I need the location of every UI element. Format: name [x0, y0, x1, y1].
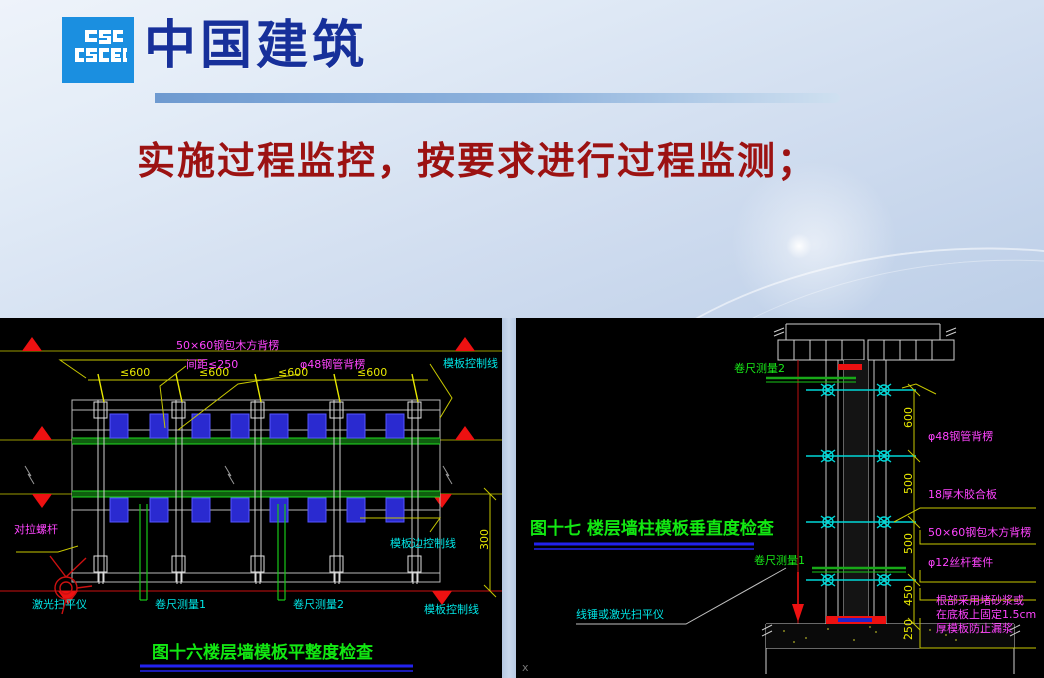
- tape-measure-1: [140, 504, 147, 600]
- panel-separator: [502, 318, 516, 678]
- dim-450: 450: [902, 585, 915, 606]
- label-control-line-bottom: 模板控制线: [424, 602, 479, 616]
- label-timber-top: 50×60钢包木方背楞: [176, 338, 279, 352]
- label-edge-control-line: 模板边控制线: [390, 536, 456, 550]
- cad-figure-right: 600 500 500 450 250 φ48钢管背楞 18厚木胶合板 50×6…: [516, 318, 1044, 678]
- tape-measure-right: [766, 378, 906, 572]
- tie-rod-nuts-bottom: [94, 556, 421, 584]
- cad-figure-left: 50×60钢包木方背楞 间距≤250 φ48钢管背楞 对拉螺杆 ≤600 ≤60…: [0, 318, 502, 678]
- dim-span-4: ≤600: [357, 366, 387, 379]
- label-screw-kit: φ12丝杆套件: [928, 555, 993, 569]
- figure-right-title: 图十七 楼层墙柱模板垂直度检查: [530, 518, 775, 539]
- label-timber-right: 50×60钢包木方背楞: [928, 525, 1031, 539]
- dim-500-b: 500: [902, 533, 915, 554]
- dim-span-1: ≤600: [120, 366, 150, 379]
- top-slab-outline: [774, 324, 956, 360]
- label-steel-pipe: φ48钢管背楞: [300, 357, 365, 371]
- header-divider-bar: [155, 93, 840, 103]
- label-plywood: 18厚木胶合板: [928, 487, 997, 501]
- pipe-waler-bands: [72, 438, 440, 497]
- label-tape-1: 卷尺测量1: [155, 597, 206, 611]
- label-tie-rod: 对拉螺杆: [14, 522, 58, 536]
- level-marker-triangles: [22, 337, 78, 605]
- label-base-note-2: 在底板上固定1.5cm: [936, 607, 1036, 621]
- red-top-marker: [838, 364, 862, 370]
- brand-title: 中国建筑: [144, 10, 368, 82]
- slide-headline: 实施过程监控，按要求进行过程监测；: [137, 130, 917, 185]
- background-glow-dot: [786, 233, 812, 259]
- label-laser-level: 激光扫平仪: [32, 597, 87, 611]
- figure-left-title: 图十六楼层墙模板平整度检查: [152, 642, 374, 663]
- label-tape-2: 卷尺测量2: [293, 597, 344, 611]
- dim-span-2: ≤600: [199, 366, 229, 379]
- dim-300: 300: [478, 529, 491, 550]
- cscec-logo: [62, 17, 134, 83]
- label-control-line-top: 模板控制线: [443, 356, 498, 370]
- plumb-arrow: [792, 572, 804, 622]
- dim-500-a: 500: [902, 473, 915, 494]
- label-steel-pipe-right: φ48钢管背楞: [928, 429, 993, 443]
- label-base-note-1: 根部采用堵砂浆或: [936, 593, 1024, 607]
- label-tape-1-right: 卷尺测量1: [754, 553, 805, 567]
- cscec-logo-glyph: [69, 24, 127, 76]
- dim-span-3: ≤600: [278, 366, 308, 379]
- label-tape-2-right: 卷尺测量2: [734, 361, 785, 375]
- label-base-note-3: 厚模板防止漏浆: [936, 621, 1013, 635]
- dim-600: 600: [902, 407, 915, 428]
- corner-mark: x: [522, 661, 529, 674]
- slide-canvas: 中国建筑 实施过程监控，按要求进行过程监测；: [0, 0, 1044, 678]
- dim-250: 250: [902, 619, 915, 640]
- label-plumb: 线锤或激光扫平仪: [576, 607, 664, 621]
